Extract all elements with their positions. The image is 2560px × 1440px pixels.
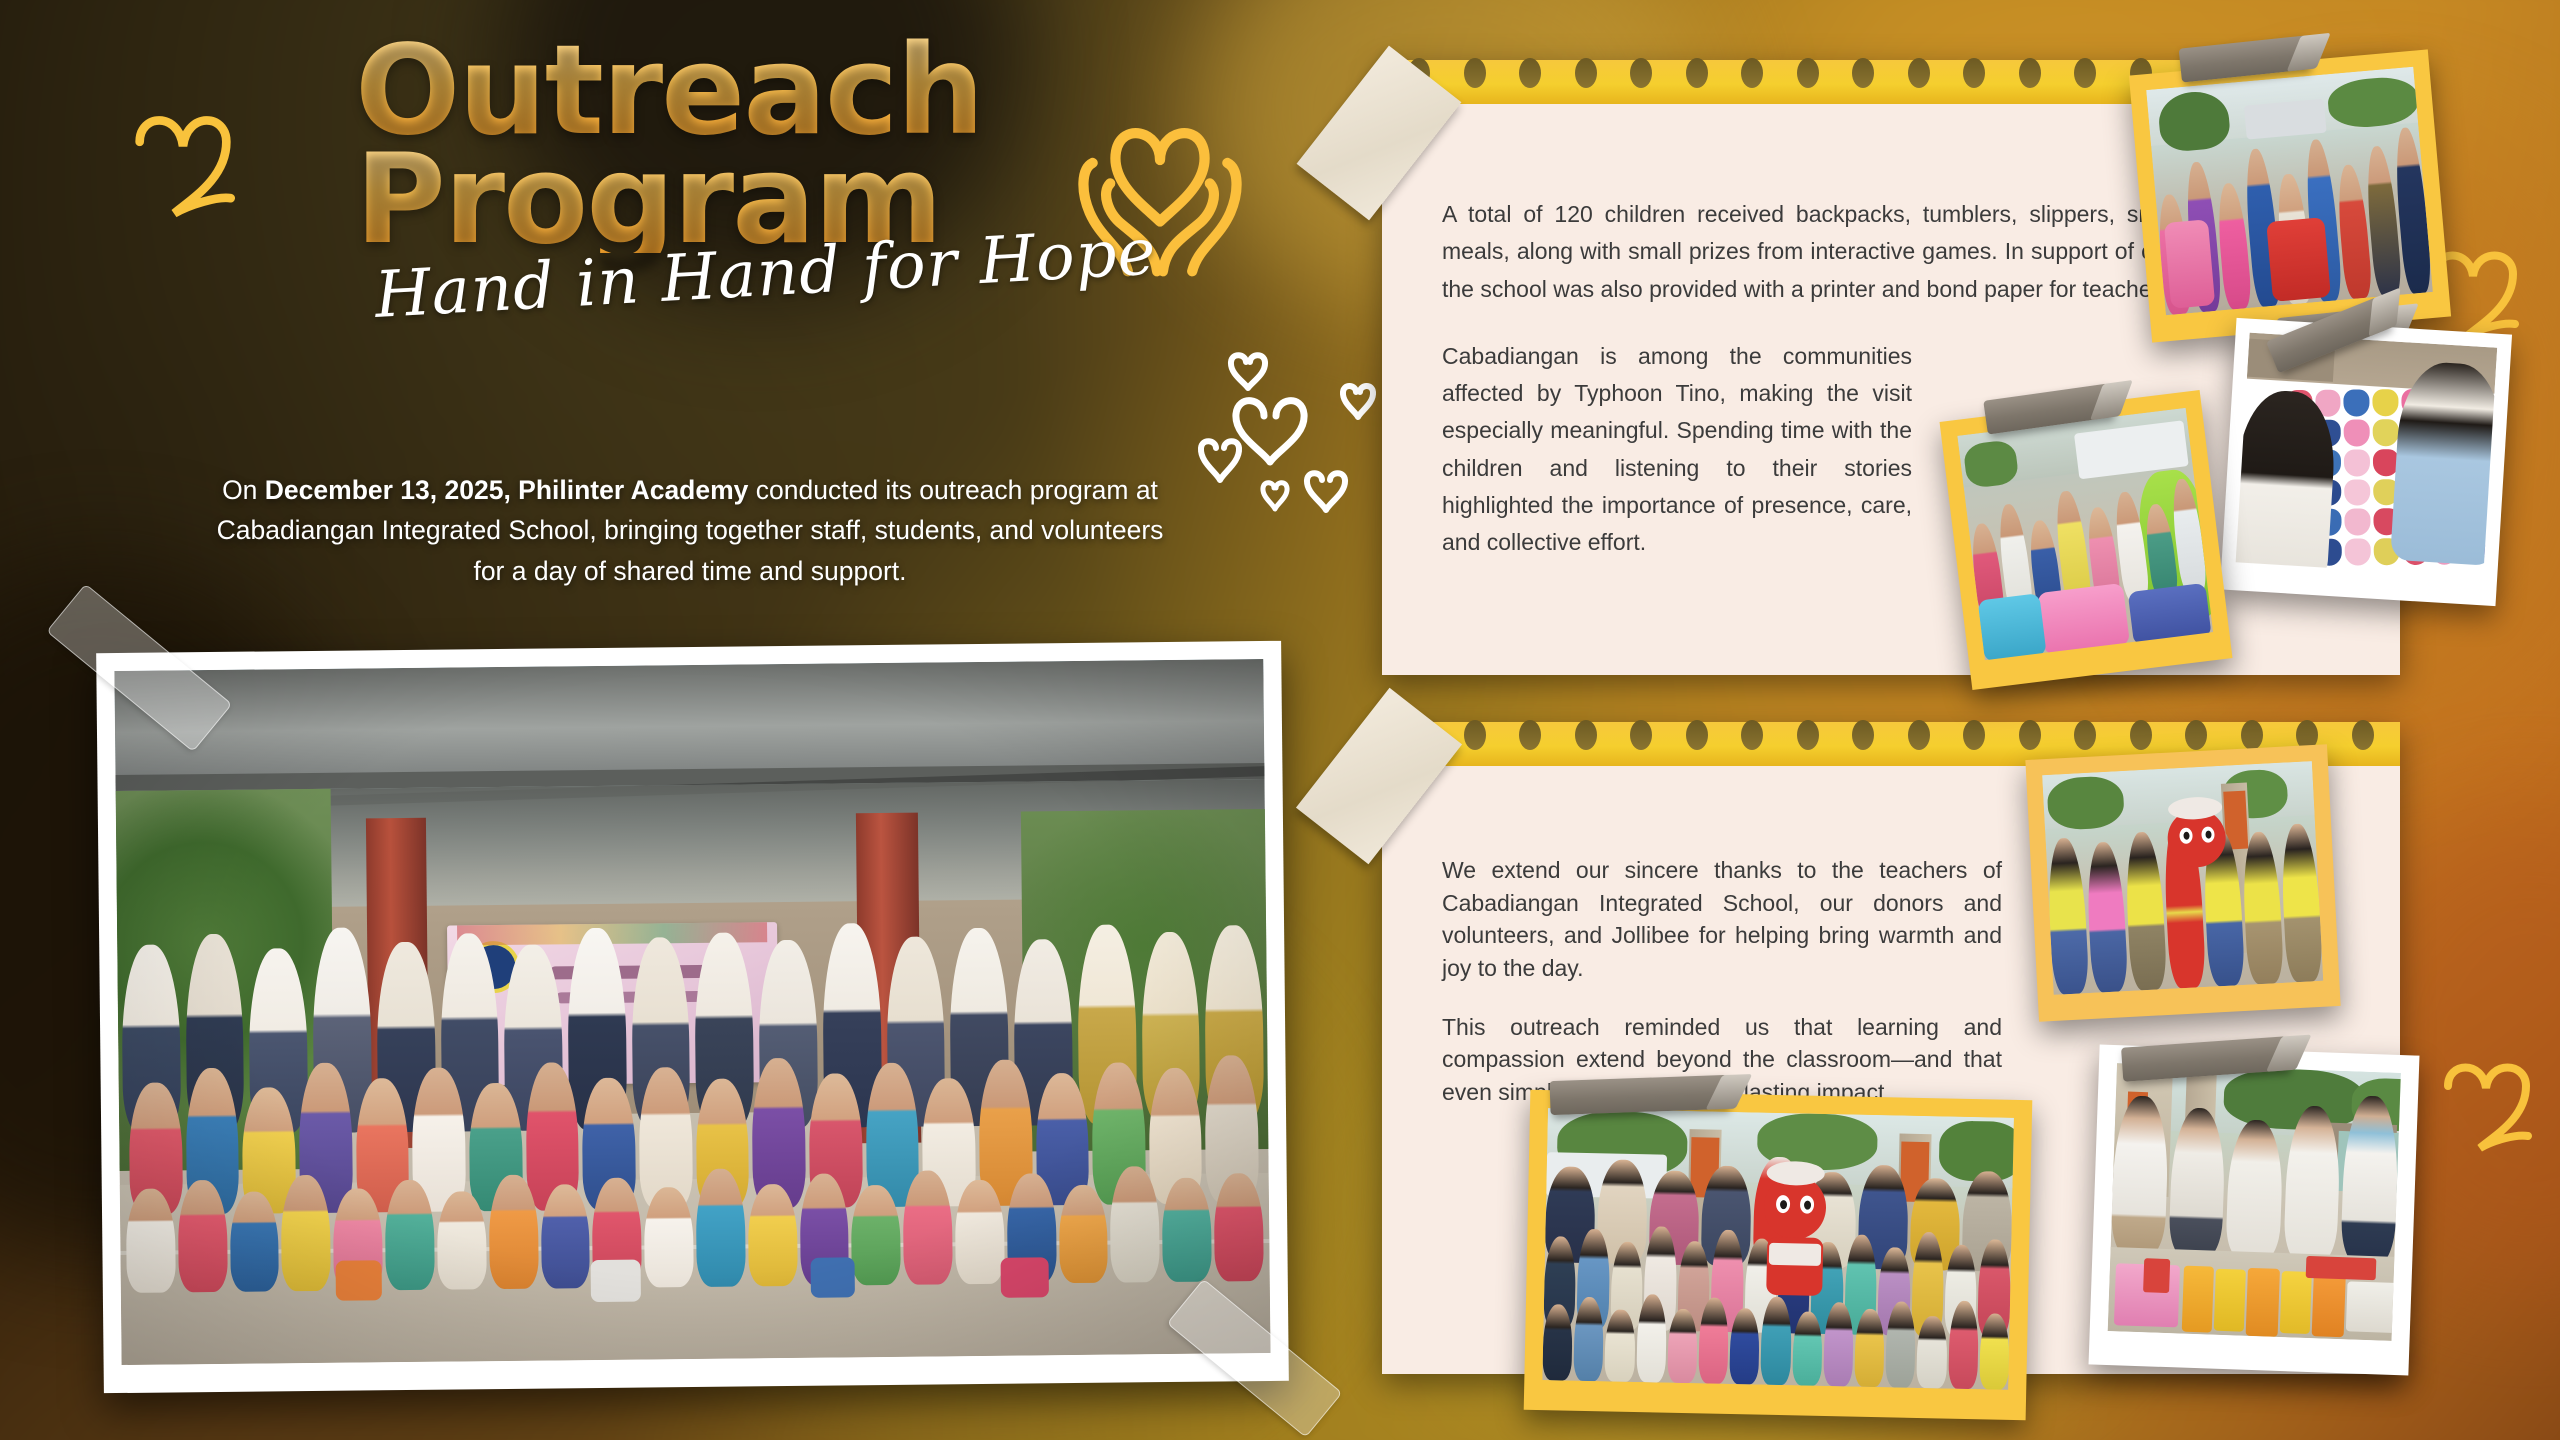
photo-snack-packing (2089, 1045, 2420, 1376)
note-paragraph: Cabadiangan is among the communities aff… (1442, 338, 1912, 562)
intro-prefix: On (222, 475, 265, 505)
heart-cluster-icon (1190, 330, 1390, 520)
photo-image (1957, 408, 2213, 660)
note-paragraph: We extend our sincere thanks to the teac… (1442, 854, 2002, 985)
poster-canvas: Outreach Program Hand in Hand for Hope O… (0, 0, 2560, 1440)
hero-group-photo (96, 641, 1289, 1393)
photo-image (2146, 67, 2433, 315)
gray-tape (1549, 1075, 1728, 1115)
hero-photo-image (114, 659, 1270, 1365)
heart-outline-icon (2428, 1040, 2548, 1160)
photo-image (2108, 1063, 2401, 1341)
intro-paragraph: On December 13, 2025, Philinter Academy … (205, 470, 1175, 591)
photo-backpacks-raised (2129, 49, 2451, 342)
photo-queue-supplies (1940, 390, 2233, 690)
photo-image (1542, 1108, 2014, 1390)
photo-image (2042, 761, 2323, 995)
photo-jollibee-children (1524, 1090, 2033, 1420)
photo-jollibee-teachers (2025, 744, 2340, 1021)
page-title: Outreach Program Hand in Hand for Hope (355, 38, 1055, 333)
photo-slippers-laid-out (2220, 318, 2512, 606)
heart-outline-icon (118, 92, 248, 222)
intro-highlight: December 13, 2025, Philinter Academy (265, 475, 749, 505)
photo-image (2236, 333, 2498, 578)
